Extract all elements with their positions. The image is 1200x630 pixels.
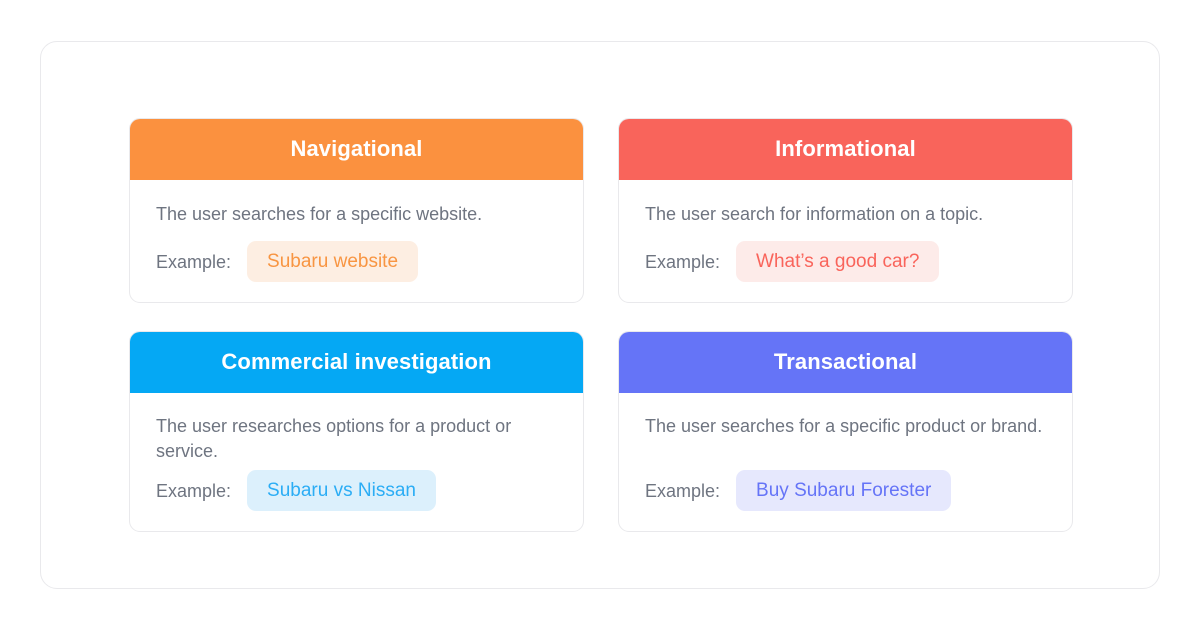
card-description: The user searches for a specific product… bbox=[645, 414, 1046, 439]
card-title: Informational bbox=[775, 138, 916, 160]
card-body-commercial-investigation: The user researches options for a produc… bbox=[130, 393, 583, 531]
example-chip[interactable]: What’s a good car? bbox=[736, 241, 939, 282]
example-row: Example: What’s a good car? bbox=[645, 227, 1046, 282]
card-title: Commercial investigation bbox=[221, 351, 491, 373]
card-description: The user researches options for a produc… bbox=[156, 414, 557, 464]
card-body-navigational: The user searches for a specific website… bbox=[130, 180, 583, 302]
example-label: Example: bbox=[156, 253, 231, 271]
card-title: Navigational bbox=[290, 138, 422, 160]
card-commercial-investigation: Commercial investigation The user resear… bbox=[129, 331, 584, 532]
card-navigational: Navigational The user searches for a spe… bbox=[129, 118, 584, 303]
card-informational: Informational The user search for inform… bbox=[618, 118, 1073, 303]
card-body-transactional: The user searches for a specific product… bbox=[619, 393, 1072, 531]
example-label: Example: bbox=[645, 482, 720, 500]
card-body-informational: The user search for information on a top… bbox=[619, 180, 1072, 302]
card-header-commercial-investigation: Commercial investigation bbox=[129, 331, 584, 393]
search-intent-card-grid: Navigational The user searches for a spe… bbox=[129, 118, 1073, 532]
example-chip[interactable]: Subaru vs Nissan bbox=[247, 470, 436, 511]
cards-panel: Navigational The user searches for a spe… bbox=[40, 41, 1160, 589]
card-header-informational: Informational bbox=[618, 118, 1073, 180]
example-row: Example: Subaru vs Nissan bbox=[156, 464, 557, 511]
page-root: Navigational The user searches for a spe… bbox=[0, 0, 1200, 630]
card-description: The user searches for a specific website… bbox=[156, 202, 557, 227]
example-chip[interactable]: Buy Subaru Forester bbox=[736, 470, 951, 511]
example-chip[interactable]: Subaru website bbox=[247, 241, 418, 282]
example-label: Example: bbox=[156, 482, 231, 500]
card-title: Transactional bbox=[774, 351, 917, 373]
card-header-navigational: Navigational bbox=[129, 118, 584, 180]
example-row: Example: Buy Subaru Forester bbox=[645, 464, 1046, 511]
example-label: Example: bbox=[645, 253, 720, 271]
card-header-transactional: Transactional bbox=[618, 331, 1073, 393]
example-row: Example: Subaru website bbox=[156, 227, 557, 282]
card-description: The user search for information on a top… bbox=[645, 202, 1046, 227]
card-transactional: Transactional The user searches for a sp… bbox=[618, 331, 1073, 532]
